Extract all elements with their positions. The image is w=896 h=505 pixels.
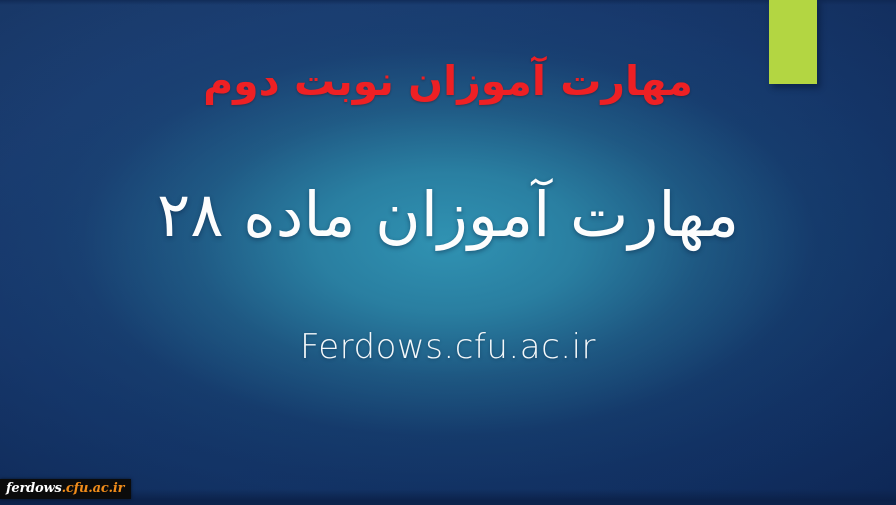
- slide-title: مهارت آموزان ماده ۲۸: [0, 178, 896, 252]
- background-bottom-edge: [0, 489, 896, 505]
- watermark-badge: ferdows.cfu.ac.ir: [0, 479, 131, 499]
- watermark-name: ferdows: [6, 482, 62, 495]
- presentation-slide: مهارت آموزان نوبت دوم مهارت آموزان ماده …: [0, 0, 896, 505]
- background-top-edge: [0, 0, 896, 5]
- slide-subtitle-red: مهارت آموزان نوبت دوم: [0, 56, 896, 107]
- watermark-domain: .cfu.ac.ir: [62, 482, 125, 495]
- website-url: Ferdows.cfu.ac.ir: [0, 327, 896, 367]
